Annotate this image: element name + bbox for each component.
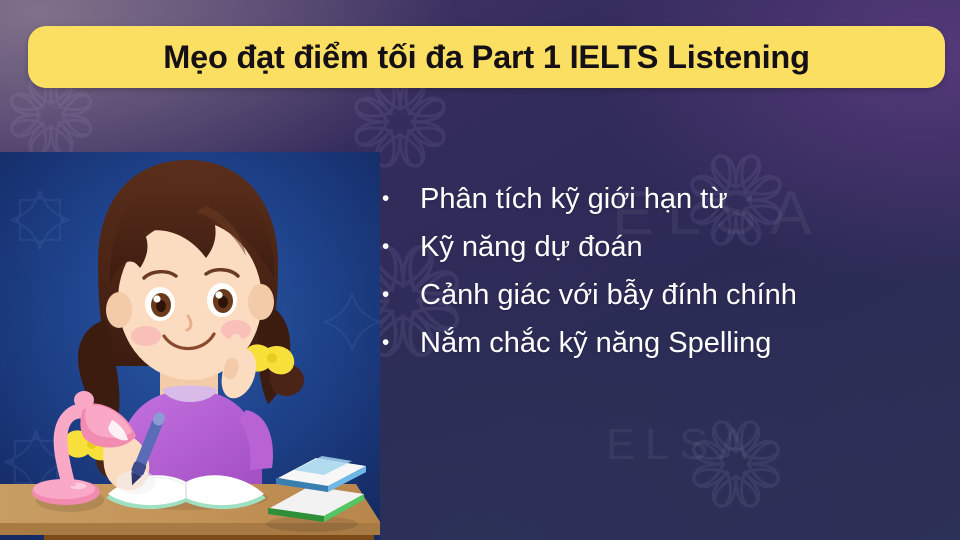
desk-front bbox=[44, 535, 374, 540]
right-eye bbox=[207, 283, 237, 317]
list-item-label: Phân tích kỹ giới hạn từ bbox=[399, 182, 728, 216]
list-item: Phân tích kỹ giới hạn từ bbox=[382, 182, 942, 230]
bullet-dot-icon bbox=[382, 326, 399, 360]
left-eye bbox=[145, 287, 175, 321]
left-cheek bbox=[131, 326, 161, 346]
watermark-brand-text: ELSA bbox=[606, 420, 757, 470]
girl-studying-illustration bbox=[0, 152, 380, 540]
bullet-dot-icon bbox=[382, 182, 399, 216]
right-ear bbox=[248, 284, 274, 320]
list-item: Cảnh giác với bẫy đính chính bbox=[382, 278, 942, 326]
page-title: Mẹo đạt điểm tối đa Part 1 IELTS Listeni… bbox=[163, 41, 810, 74]
slide-canvas: ELSAELSAELSA bbox=[0, 0, 960, 540]
title-banner: Mẹo đạt điểm tối đa Part 1 IELTS Listeni… bbox=[28, 26, 945, 88]
list-item-label: Kỹ năng dự đoán bbox=[399, 230, 643, 264]
left-ear bbox=[106, 292, 132, 328]
lamp-knob bbox=[74, 391, 94, 409]
list-item: Nắm chắc kỹ năng Spelling bbox=[382, 326, 942, 374]
bullet-dot-icon bbox=[382, 230, 399, 264]
bullet-dot-icon bbox=[382, 278, 399, 312]
tips-bullet-list: Phân tích kỹ giới hạn từ Kỹ năng dự đoán… bbox=[382, 182, 942, 374]
list-item-label: Nắm chắc kỹ năng Spelling bbox=[399, 326, 771, 360]
list-item-label: Cảnh giác với bẫy đính chính bbox=[399, 278, 797, 312]
elsa-flower-star-icon bbox=[690, 418, 782, 510]
list-item: Kỹ năng dự đoán bbox=[382, 230, 942, 278]
